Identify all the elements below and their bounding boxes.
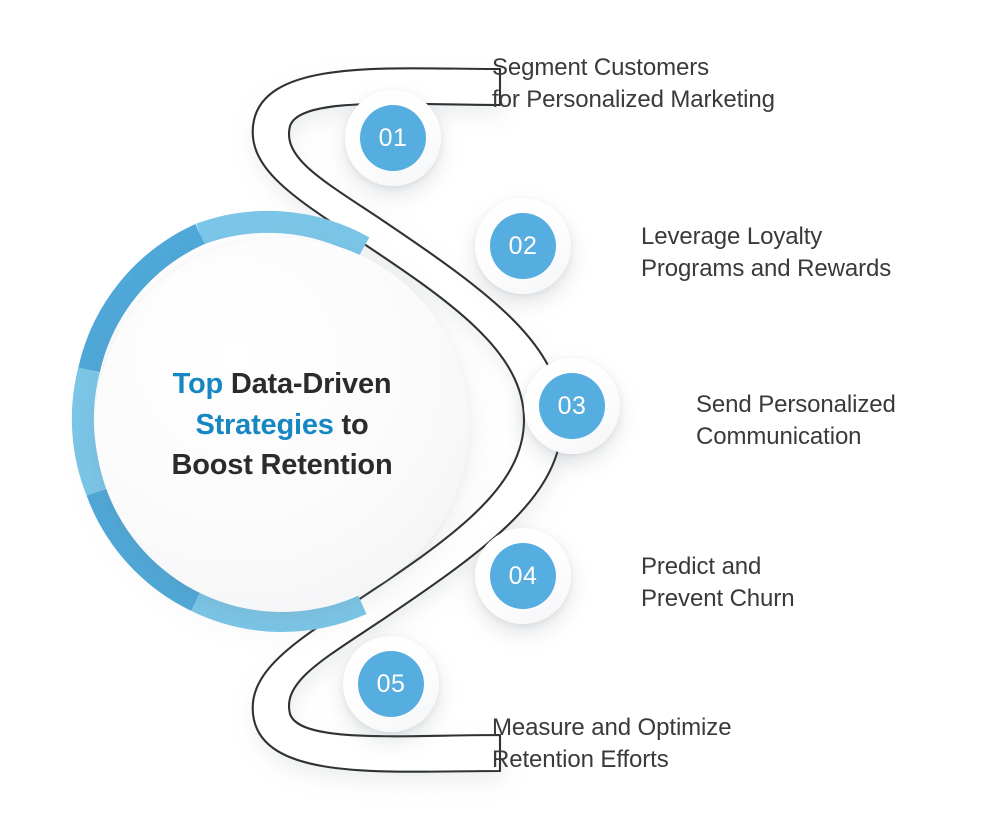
step-badge-04[interactable]: 04: [475, 528, 571, 624]
center-title-rest-1: Data-Driven: [223, 368, 391, 400]
step-label-03-line-2: Communication: [696, 421, 896, 453]
step-label-04: Predict and Prevent Churn: [641, 551, 794, 614]
step-label-01-line-1: Segment Customers: [492, 52, 775, 84]
step-number-03: 03: [539, 373, 605, 439]
step-label-03: Send Personalized Communication: [696, 389, 896, 452]
step-label-05-line-1: Measure and Optimize: [492, 712, 731, 744]
center-title: Top Data-Driven Strategies to Boost Rete…: [95, 238, 469, 612]
step-label-03-line-1: Send Personalized: [696, 389, 896, 421]
step-badge-05[interactable]: 05: [343, 636, 439, 732]
step-badge-01[interactable]: 01: [345, 90, 441, 186]
step-number-02: 02: [490, 213, 556, 279]
step-number-05: 05: [358, 651, 424, 717]
step-label-05: Measure and Optimize Retention Efforts: [492, 712, 731, 775]
center-title-line-1: Top Data-Driven: [173, 364, 392, 405]
center-title-accent-2: Strategies: [195, 409, 333, 441]
center-title-line-3: Boost Retention: [172, 445, 393, 486]
step-badge-03[interactable]: 03: [524, 358, 620, 454]
center-title-accent-1: Top: [173, 368, 223, 400]
center-title-line-2: Strategies to: [195, 405, 368, 446]
step-label-04-line-1: Predict and: [641, 551, 794, 583]
step-label-05-line-2: Retention Efforts: [492, 744, 731, 776]
infographic-canvas: Top Data-Driven Strategies to Boost Rete…: [0, 0, 1000, 840]
step-number-01: 01: [360, 105, 426, 171]
step-label-02-line-2: Programs and Rewards: [641, 253, 891, 285]
step-label-01-line-2: for Personalized Marketing: [492, 84, 775, 116]
step-label-04-line-2: Prevent Churn: [641, 583, 794, 615]
step-label-02: Leverage Loyalty Programs and Rewards: [641, 221, 891, 284]
step-badge-02[interactable]: 02: [475, 198, 571, 294]
step-label-01: Segment Customers for Personalized Marke…: [492, 52, 775, 115]
step-label-02-line-1: Leverage Loyalty: [641, 221, 891, 253]
step-number-04: 04: [490, 543, 556, 609]
center-title-rest-2: to: [334, 409, 369, 441]
